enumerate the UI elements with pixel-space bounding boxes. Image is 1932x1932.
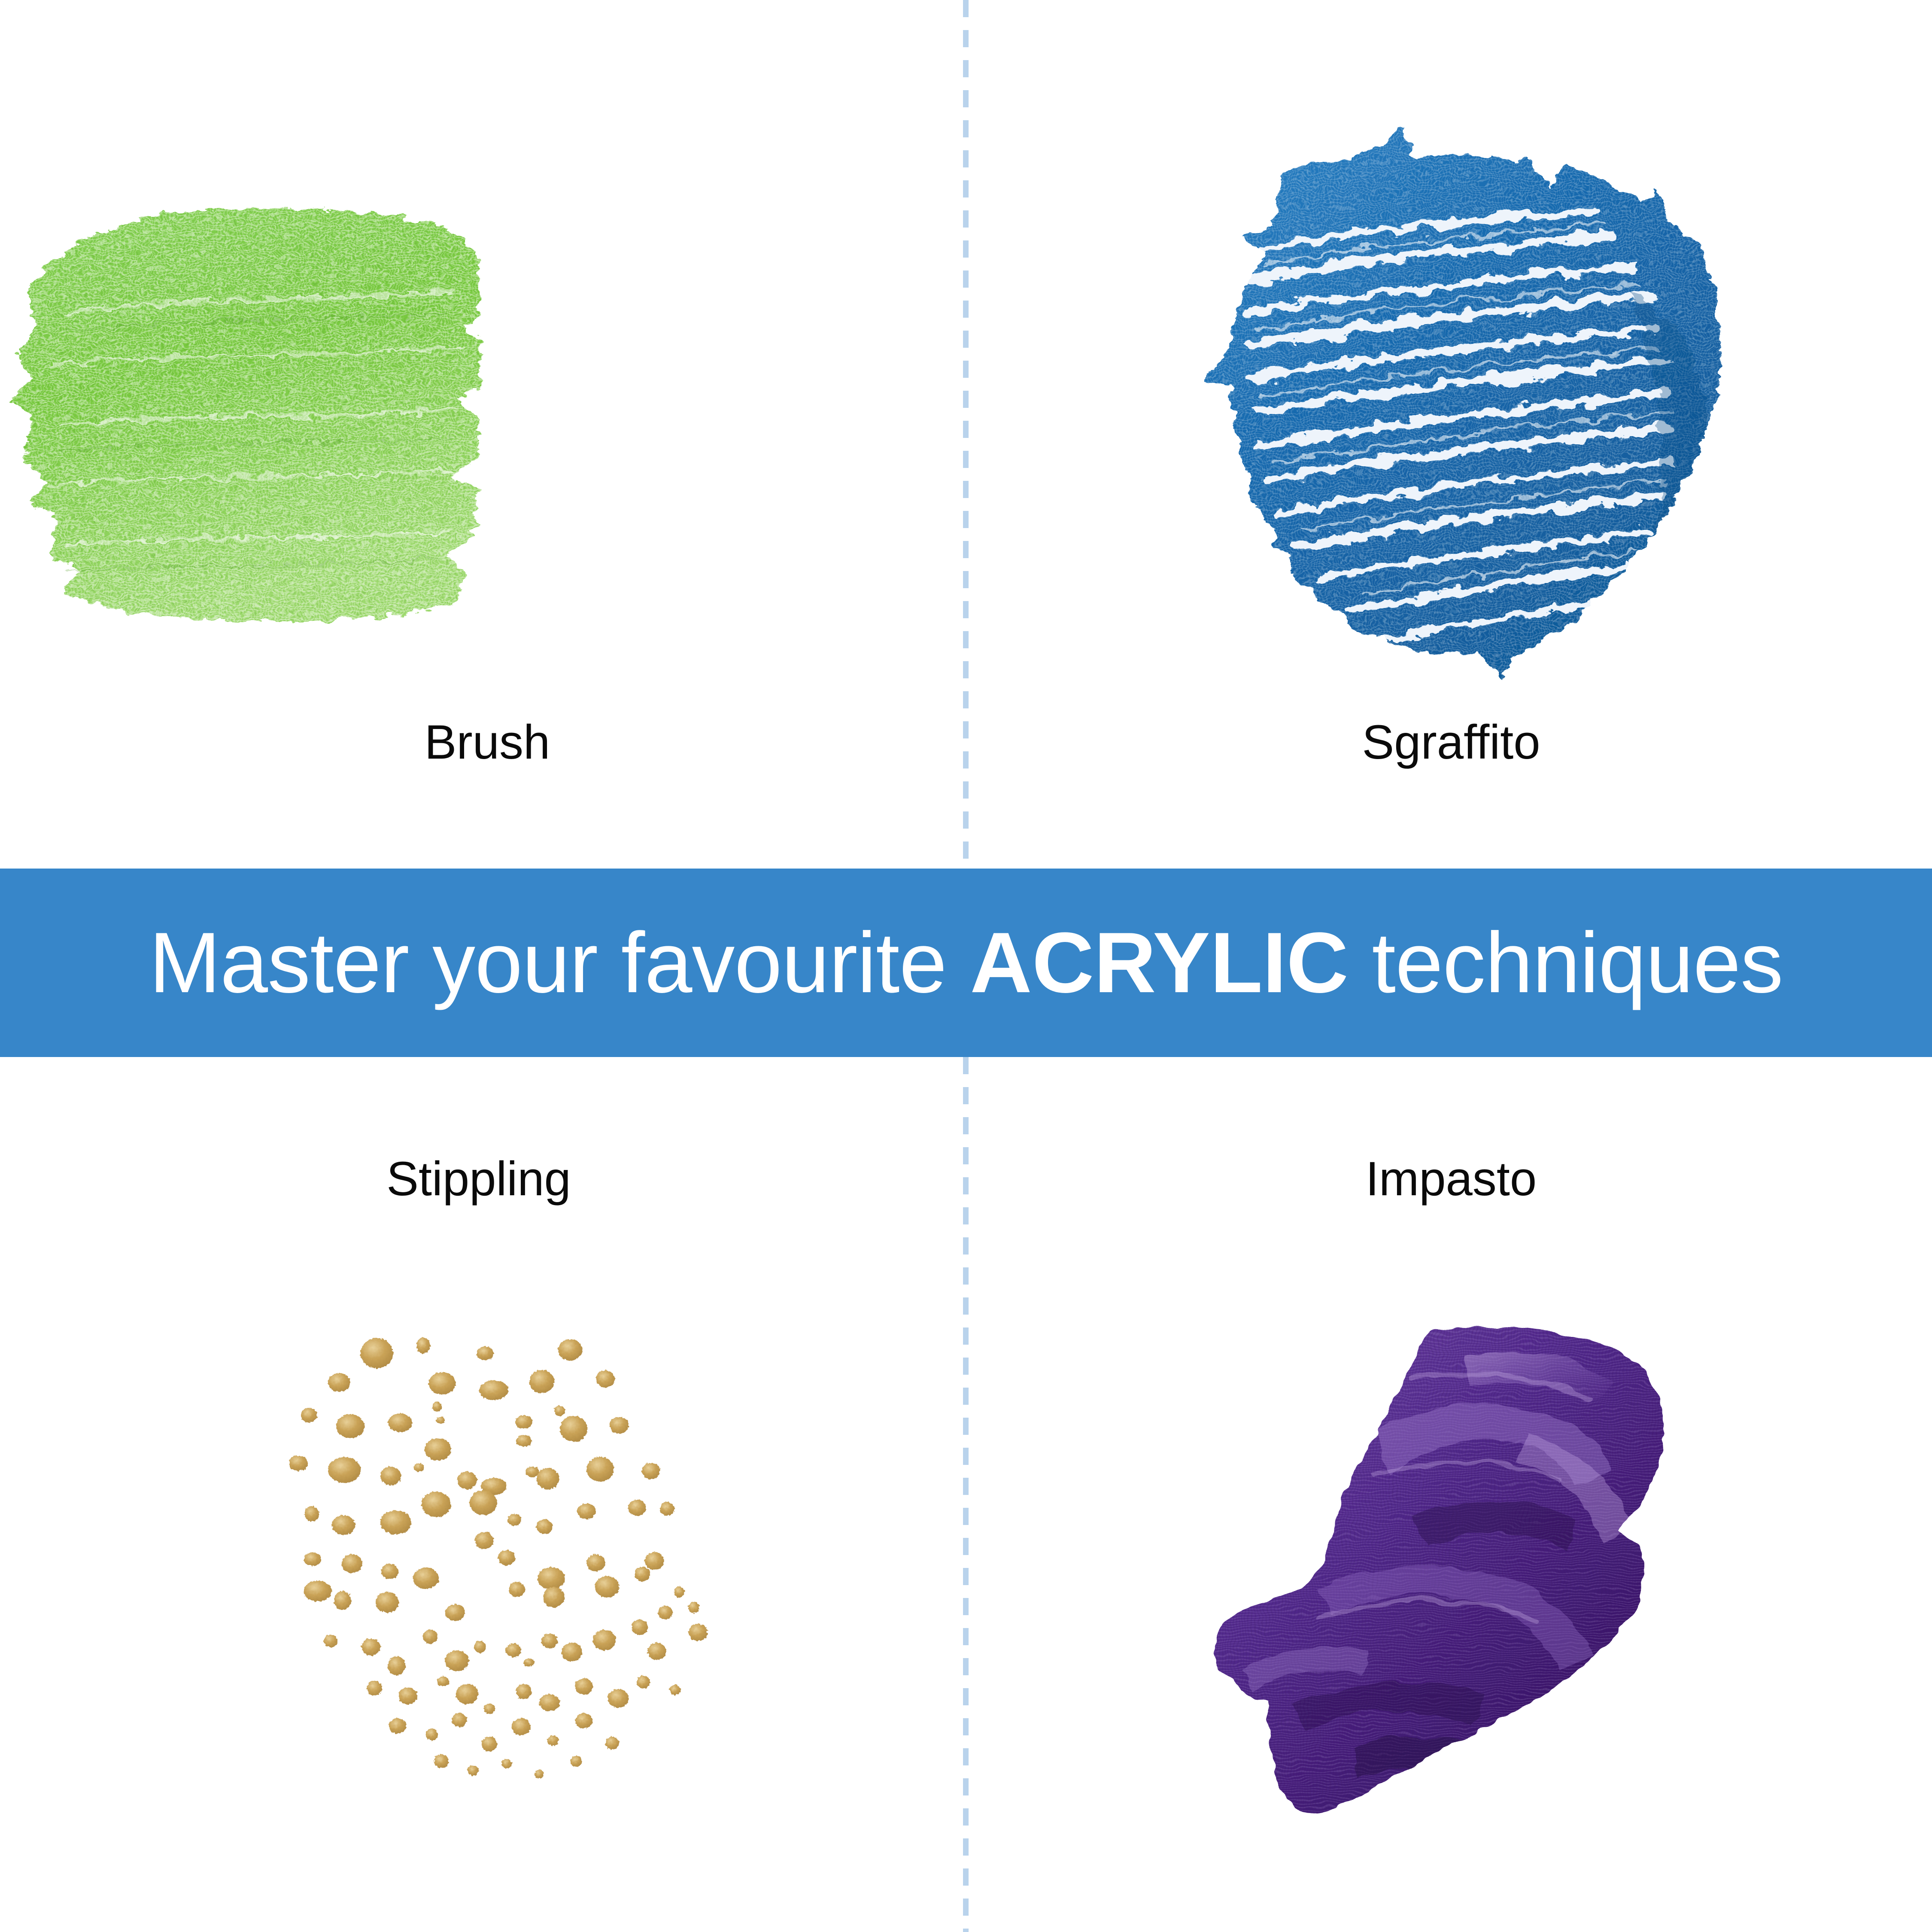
purple-impasto-blob-swatch	[1189, 1292, 1670, 1863]
gold-stipple-dots-swatch	[266, 1314, 721, 1799]
headline-banner: Master your favourite ACRYLIC techniques	[0, 869, 1932, 1057]
vertical-dashed-divider-bottom	[963, 1057, 969, 1932]
quadrant-brush	[0, 0, 963, 869]
quadrant-stippling	[0, 1057, 963, 1932]
headline-text-strong: ACRYLIC	[970, 915, 1348, 1011]
quadrant-sgraffito	[969, 0, 1932, 869]
green-brush-stroke-icon	[0, 185, 494, 631]
gold-stipple-dots-icon	[266, 1314, 721, 1799]
quadrant-impasto	[969, 1057, 1932, 1932]
poster-canvas: Master your favourite ACRYLIC techniques	[0, 0, 1932, 1932]
headline-text-before: Master your favourite	[149, 915, 970, 1011]
blue-sgraffito-stroke-icon	[1176, 120, 1726, 683]
headline-text-after: techniques	[1349, 915, 1783, 1011]
headline-text: Master your favourite ACRYLIC techniques	[149, 920, 1783, 1006]
green-brush-stroke-swatch	[0, 185, 494, 631]
purple-impasto-blob-icon	[1189, 1292, 1670, 1863]
blue-sgraffito-stroke-swatch	[1176, 120, 1726, 683]
vertical-dashed-divider-top	[963, 0, 969, 869]
